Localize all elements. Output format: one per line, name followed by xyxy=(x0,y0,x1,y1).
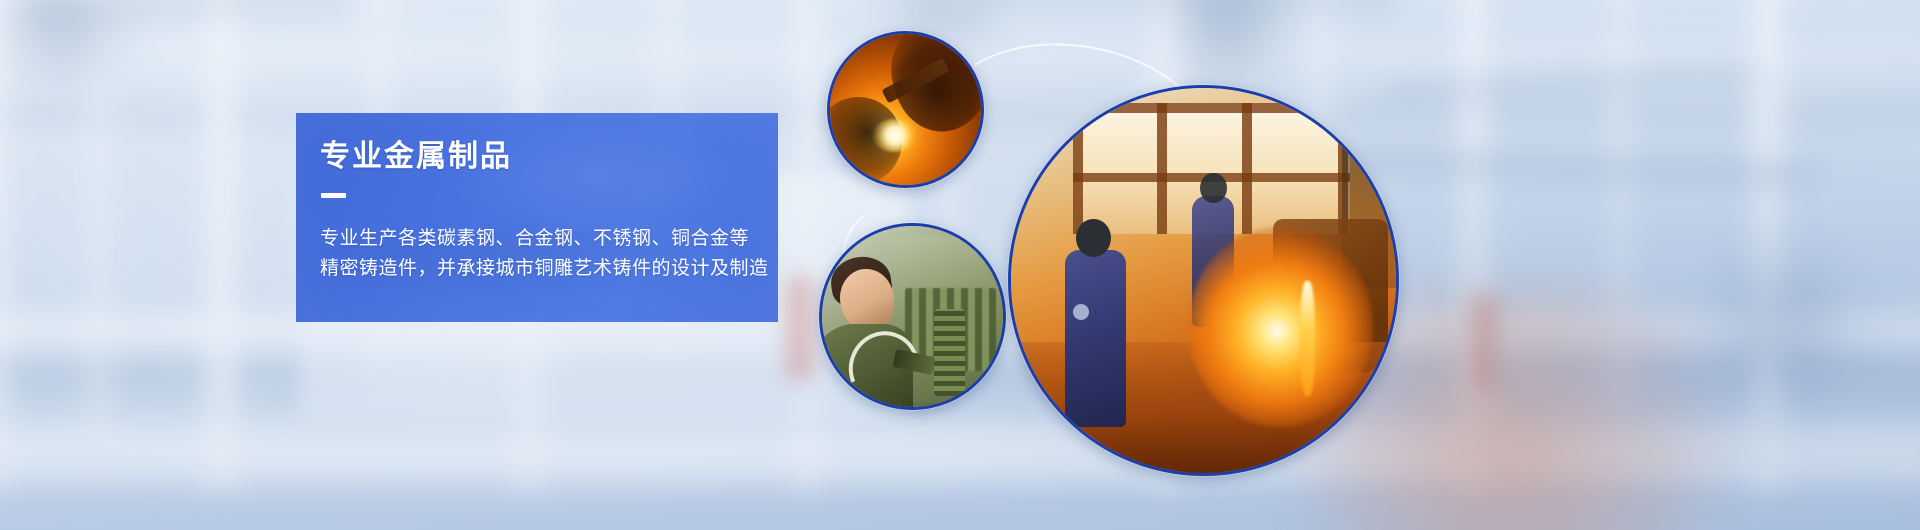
panel-description: 专业生产各类碳素钢、合金钢、不锈钢、铜合金等 精密铸造件，并承接城市铜雕艺术铸件… xyxy=(320,224,770,284)
hero-banner: 专业金属制品 专业生产各类碳素钢、合金钢、不锈钢、铜合金等 精密铸造件，并承接城… xyxy=(0,0,1920,530)
welding-photo xyxy=(827,31,984,188)
foundry-photo-art xyxy=(1011,88,1396,473)
promo-text-panel: 专业金属制品 专业生产各类碳素钢、合金钢、不锈钢、铜合金等 精密铸造件，并承接城… xyxy=(296,113,778,322)
description-line-1: 专业生产各类碳素钢、合金钢、不锈钢、铜合金等 xyxy=(320,224,770,254)
title-divider xyxy=(321,193,346,198)
page-title: 专业金属制品 xyxy=(320,140,512,175)
welding-photo-art xyxy=(830,34,981,185)
description-line-2: 精密铸造件，并承接城市铜雕艺术铸件的设计及制造 xyxy=(320,254,770,284)
inspection-photo-art xyxy=(822,226,1003,407)
foundry-photo xyxy=(1008,85,1399,476)
inspection-photo xyxy=(819,223,1006,410)
